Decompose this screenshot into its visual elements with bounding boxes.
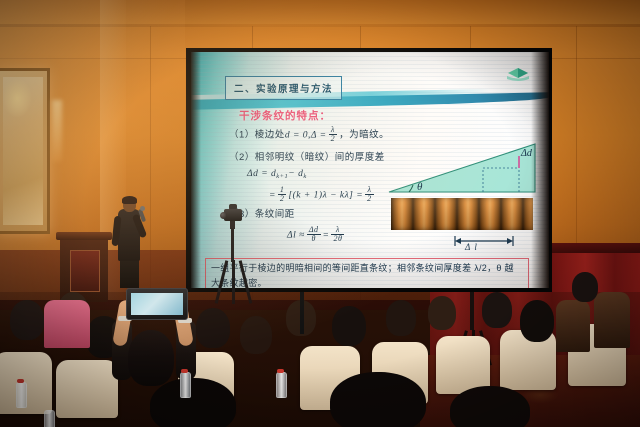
audience-head bbox=[386, 300, 416, 336]
audience-head-foreground bbox=[150, 378, 236, 427]
camera-lens bbox=[220, 212, 227, 219]
bottle-cap bbox=[277, 369, 284, 373]
phone-screen bbox=[131, 293, 183, 315]
audience-head bbox=[482, 292, 512, 328]
screenshot-root: 二、实验原理与方法 干涉条纹的特点： （1）棱边处d = 0,Δ =λ2，为暗纹… bbox=[0, 0, 640, 427]
water-bottle bbox=[44, 410, 55, 427]
presenter-legs bbox=[120, 258, 139, 288]
audience-head-foreground bbox=[450, 386, 530, 427]
audience-head bbox=[572, 272, 598, 302]
projection-screen: 二、实验原理与方法 干涉条纹的特点： （1）棱边处d = 0,Δ =λ2，为暗纹… bbox=[191, 52, 549, 288]
theatre-seat bbox=[556, 300, 590, 352]
theatre-seat bbox=[594, 292, 630, 348]
water-bottle bbox=[180, 372, 191, 398]
smartphone[interactable] bbox=[126, 288, 188, 320]
mirror-light-glow bbox=[2, 78, 32, 118]
audience-head bbox=[196, 308, 230, 348]
podium-crest-panel bbox=[70, 250, 100, 292]
audience-head bbox=[332, 306, 366, 346]
tripod-column bbox=[231, 228, 234, 262]
bottle-cap bbox=[181, 369, 188, 373]
photographer-head bbox=[128, 330, 174, 386]
audience-body-pink bbox=[44, 300, 90, 348]
wall-sconce-light bbox=[52, 100, 62, 162]
bottle-cap bbox=[17, 379, 24, 383]
water-bottle bbox=[276, 372, 287, 398]
audience-head bbox=[10, 300, 44, 340]
equipment-stand bbox=[300, 292, 304, 334]
podium-top bbox=[56, 232, 112, 240]
audience-head bbox=[520, 300, 554, 342]
water-bottle bbox=[16, 382, 27, 408]
microphone-head bbox=[140, 206, 145, 211]
screen-vignette bbox=[191, 52, 549, 288]
audience-head-foreground bbox=[330, 372, 426, 427]
audience-head bbox=[240, 316, 272, 354]
audience-head bbox=[428, 296, 456, 330]
chair bbox=[56, 360, 118, 418]
presenter-hair bbox=[122, 196, 137, 204]
